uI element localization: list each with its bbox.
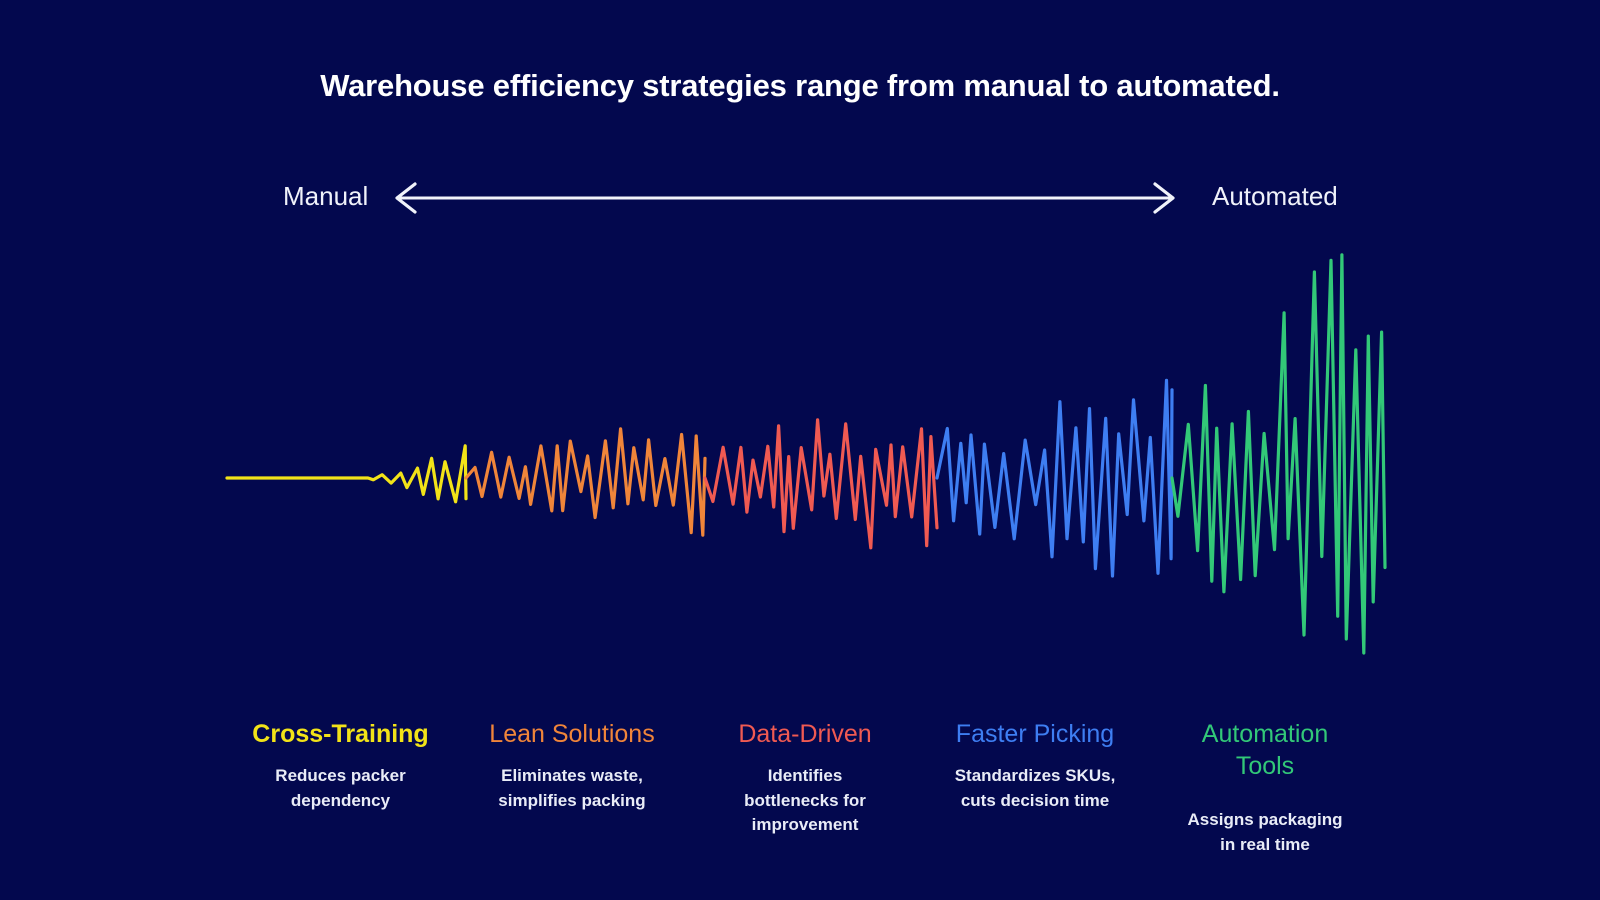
category-description: Identifies bottlenecks for improvement bbox=[710, 764, 900, 838]
category-description: Eliminates waste, simplifies packing bbox=[468, 764, 676, 813]
category-description: Reduces packer dependency bbox=[238, 764, 443, 813]
category-faster-picking: Faster Picking Standardizes SKUs, cuts d… bbox=[925, 718, 1145, 813]
category-lean-solutions: Lean Solutions Eliminates waste, simplif… bbox=[468, 718, 676, 813]
category-title: Faster Picking bbox=[925, 718, 1145, 750]
waveform-segment-data-driven bbox=[705, 420, 937, 548]
infographic-canvas: Warehouse efficiency strategies range fr… bbox=[0, 0, 1600, 900]
category-description: Assigns packaging in real time bbox=[1170, 808, 1360, 857]
category-data-driven: Data-Driven Identifies bottlenecks for i… bbox=[710, 718, 900, 838]
category-title: Automation Tools bbox=[1170, 718, 1360, 782]
waveform-segment-cross-training bbox=[227, 446, 466, 502]
waveform-segment-faster-picking bbox=[937, 380, 1172, 576]
waveform-segment-lean-solutions bbox=[466, 429, 705, 535]
waveform-segment-automation-tools bbox=[1172, 255, 1385, 653]
category-legend: Cross-Training Reduces packer dependency… bbox=[0, 718, 1600, 900]
category-title: Lean Solutions bbox=[468, 718, 676, 750]
category-cross-training: Cross-Training Reduces packer dependency bbox=[238, 718, 443, 813]
category-automation-tools: Automation Tools Assigns packaging in re… bbox=[1170, 718, 1360, 857]
category-title: Cross-Training bbox=[238, 718, 443, 750]
category-description: Standardizes SKUs, cuts decision time bbox=[925, 764, 1145, 813]
category-title: Data-Driven bbox=[710, 718, 900, 750]
